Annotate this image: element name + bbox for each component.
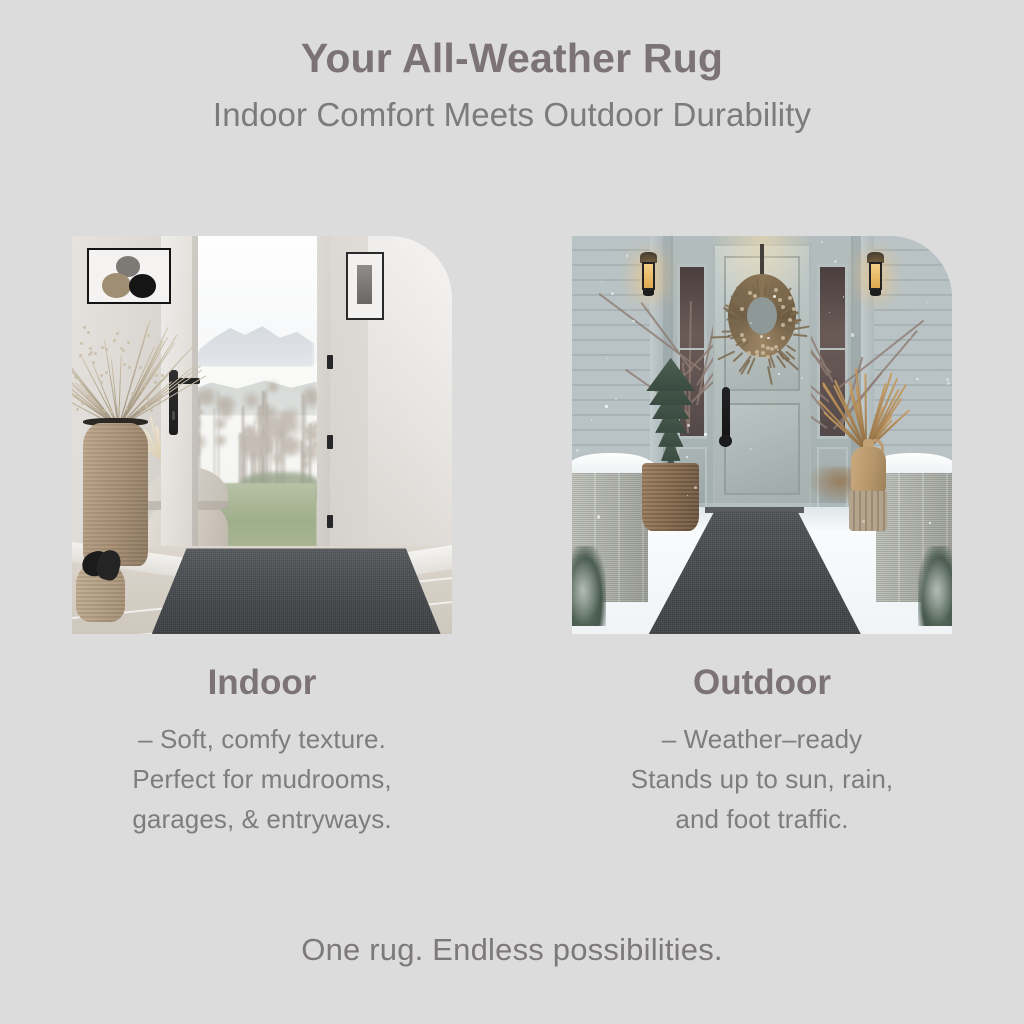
feature-line: – Weather–ready [552,719,972,759]
column-heading-indoor: Indoor [52,662,472,704]
page-subtitle: Indoor Comfort Meets Outdoor Durability [0,95,1024,135]
porch-lantern-left [639,252,659,296]
indoor-rug [152,548,441,634]
promo-graphic: Your All-Weather Rug Indoor Comfort Meet… [0,0,1024,1024]
feature-line: – Soft, comfy texture. [52,719,472,759]
column-body-outdoor: – Weather–ready Stands up to sun, rain, … [552,719,972,839]
photo-panels [0,236,1024,634]
door-keyhole [172,411,175,420]
lantern-base [870,290,881,295]
potted-evergreen [644,367,697,474]
shrub-snow-right [918,546,952,626]
door-panel-lower [724,403,800,495]
door-handle [722,387,730,443]
outdoor-scene [572,236,952,634]
dried-branches [72,320,167,427]
footer-tagline: One rug. Endless possibilities. [0,932,1024,968]
woven-floor-vase [83,423,148,566]
door-hinge [327,435,333,449]
feature-line: Stands up to sun, rain, [552,759,972,799]
indoor-photo [72,236,452,634]
terracotta-jug [851,447,885,495]
art-circle [129,274,156,298]
holiday-wreath [728,274,796,358]
feature-line: garages, & entryways. [52,799,472,839]
art-circle [102,273,131,298]
column-indoor: Indoor – Soft, comfy texture. Perfect fo… [52,662,472,839]
woven-planter [642,463,699,531]
lantern-glass [869,262,882,289]
header: Your All-Weather Rug Indoor Comfort Meet… [0,0,1024,135]
lantern-base [643,290,654,295]
page-title: Your All-Weather Rug [0,35,1024,82]
lantern-glass [642,262,655,289]
shrub-snow-left [572,546,606,626]
framed-art-portrait [346,252,384,320]
outdoor-photo [572,236,952,634]
column-body-indoor: – Soft, comfy texture. Perfect for mudro… [52,719,472,839]
column-outdoor: Outdoor – Weather–ready Stands up to sun… [552,662,972,839]
door-hinge [327,515,333,529]
framed-art-circles [87,248,171,304]
feature-line: and foot traffic. [552,799,972,839]
column-heading-outdoor: Outdoor [552,662,972,704]
feature-line: Perfect for mudrooms, [52,759,472,799]
wooden-stand [849,491,887,531]
porch-lantern-right [866,252,886,296]
door-hinge [327,355,333,369]
indoor-scene [72,236,452,634]
dried-fern [808,467,854,503]
